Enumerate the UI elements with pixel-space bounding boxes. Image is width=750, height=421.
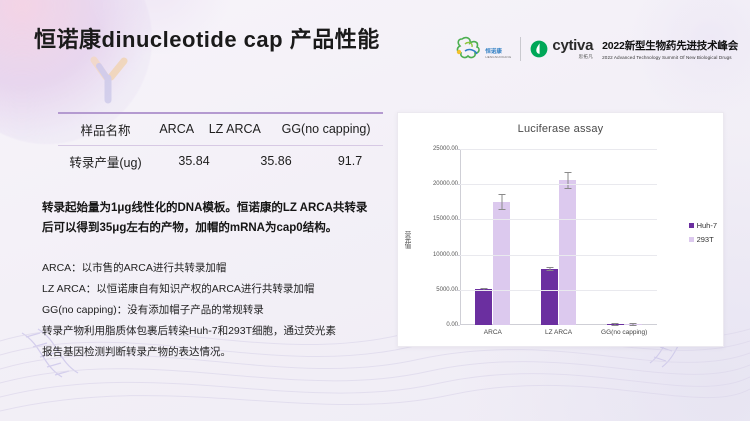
table-header-row: 样品名称 ARCA LZ ARCA GG(no capping) — [58, 114, 383, 145]
table-cell: 91.7 — [317, 146, 383, 177]
table-header-cell: ARCA — [153, 114, 200, 145]
chart-error-bar — [549, 267, 550, 271]
table-body: 转录产量(ug) 35.84 35.86 91.7 — [58, 146, 383, 177]
chart-gridline — [460, 290, 657, 291]
chart-y-tick-label: 5000.00 — [436, 287, 458, 293]
chart-bar-group — [460, 149, 526, 325]
list-item: GG(no capping)：没有添加帽子产品的常规转录 — [42, 300, 392, 321]
chart-y-tick-label: 20000.00 — [433, 181, 458, 187]
table-header-cell: LZ ARCA — [200, 114, 269, 145]
chart-legend-label: Huh-7 — [697, 221, 717, 230]
list-item: LZ ARCA：以恒诺康自有知识产权的ARCA进行共转录加帽 — [42, 279, 392, 300]
list-item: 转录产物利用脂质体包裹后转染Huh-7和293T细胞，通过荧光素 — [42, 321, 392, 342]
flower-logo-icon — [453, 35, 489, 63]
table-cell: 转录产量(ug) — [58, 146, 153, 177]
summit-title-cn: 2022新型生物药先进技术峰会 — [602, 38, 738, 53]
chart-tick-mark — [456, 184, 460, 185]
chart-bar-group — [591, 149, 657, 325]
chart-legend-item: Huh-7 — [689, 221, 717, 230]
table-row: 转录产量(ug) 35.84 35.86 91.7 — [58, 146, 383, 177]
hengnuokang-logo: 恒诺康 HENGNUOKANG — [453, 35, 511, 63]
chart-tick-mark — [456, 219, 460, 220]
list-item: 报告基因检测判断转录产物的表达情况。 — [42, 342, 392, 363]
logo-divider — [520, 37, 521, 61]
chart-title: Luciferase assay — [398, 123, 723, 135]
table-cell: 35.84 — [153, 146, 235, 177]
chart-bar — [493, 202, 510, 325]
chart-legend-label: 293T — [697, 235, 714, 244]
chart-y-tick-label: 15000.00 — [433, 216, 458, 222]
chart-grid-area — [460, 149, 657, 325]
slide-background: 恒诺康dinucleotide cap 产品性能 恒诺康 HENGNUOKANG — [0, 0, 750, 421]
cytiva-logo: cytiva 思拓凡 — [530, 38, 593, 60]
yield-table: 样品名称 ARCA LZ ARCA GG(no capping) 转录产量(ug… — [58, 112, 383, 177]
chart-bars — [460, 149, 657, 325]
chart-gridline — [460, 184, 657, 185]
chart-bar — [475, 289, 492, 325]
slide-header: 恒诺康dinucleotide cap 产品性能 恒诺康 HENGNUOKANG — [0, 14, 750, 62]
chart-legend: Huh-7293T — [689, 221, 717, 244]
table-header-cell: 样品名称 — [58, 114, 153, 145]
summit-branding: 2022新型生物药先进技术峰会 2022 Advanced Technology… — [602, 38, 738, 60]
chart-tick-mark — [456, 290, 460, 291]
list-item: ARCA：以市售的ARCA进行共转录加帽 — [42, 258, 392, 279]
chart-error-bar — [615, 323, 616, 326]
chart-tick-mark — [456, 325, 460, 326]
summary-line: 转录起始量为1μg线性化的DNA模板。恒诺康的LZ ARCA共转录 — [42, 198, 382, 218]
chart-tick-mark — [456, 149, 460, 150]
chart-x-axis-labels: ARCALZ ARCAGG(no capping) — [460, 329, 657, 336]
notes-list: ARCA：以市售的ARCA进行共转录加帽 LZ ARCA：以恒诺康自有知识产权的… — [42, 258, 392, 363]
chart-bar — [541, 269, 558, 325]
chart-legend-swatch — [689, 237, 694, 242]
chart-bar — [559, 180, 576, 325]
chart-x-tick-label: ARCA — [460, 329, 526, 336]
page-title: 恒诺康dinucleotide cap 产品性能 — [34, 22, 380, 54]
chart-bar — [625, 324, 642, 325]
chart-legend-item: 293T — [689, 235, 717, 244]
summary-line: 后可以得到35μg左右的产物，加帽的mRNA为cap0结构。 — [42, 218, 382, 238]
chart-error-bar — [501, 194, 502, 210]
chart-y-axis-ticks: 0.005000.0010000.0015000.0020000.0025000… — [412, 135, 458, 340]
chart-gridline — [460, 255, 657, 256]
table-header-cell: GG(no capping) — [269, 114, 383, 145]
chart-error-bar — [567, 172, 568, 189]
summary-paragraph: 转录起始量为1μg线性化的DNA模板。恒诺康的LZ ARCA共转录 后可以得到3… — [42, 198, 382, 238]
cytiva-wordmark: cytiva — [552, 38, 593, 53]
chart-x-tick-label: LZ ARCA — [526, 329, 592, 336]
chart-bar-group — [526, 149, 592, 325]
chart-y-tick-label: 25000.00 — [433, 146, 458, 152]
summit-title-en: 2022 Advanced Technology Summit Of New B… — [602, 55, 738, 60]
hengnuokang-name-cn: 恒诺康 — [485, 47, 511, 55]
chart-gridline — [460, 149, 657, 150]
cytiva-mark-icon — [530, 40, 548, 58]
chart-y-axis-label: 荧光值 — [401, 231, 411, 248]
chart-legend-swatch — [689, 223, 694, 228]
chart-plot-area: 荧光值 0.005000.0010000.0015000.0020000.002… — [398, 135, 725, 340]
cytiva-subtext: 思拓凡 — [552, 54, 593, 60]
chart-gridline — [460, 219, 657, 220]
table: 样品名称 ARCA LZ ARCA GG(no capping) — [58, 114, 383, 145]
chart-error-bar — [633, 323, 634, 326]
table-cell: 35.86 — [235, 146, 317, 177]
hengnuokang-name-en: HENGNUOKANG — [485, 55, 511, 59]
luciferase-chart-card: Luciferase assay 荧光值 0.005000.0010000.00… — [397, 112, 724, 347]
logo-group: 恒诺康 HENGNUOKANG cytiva 思拓凡 2022新型生物药先进技术… — [453, 34, 738, 64]
chart-tick-mark — [456, 255, 460, 256]
chart-bar — [607, 324, 624, 325]
chart-x-tick-label: GG(no capping) — [591, 329, 657, 336]
chart-y-tick-label: 10000.00 — [433, 252, 458, 258]
